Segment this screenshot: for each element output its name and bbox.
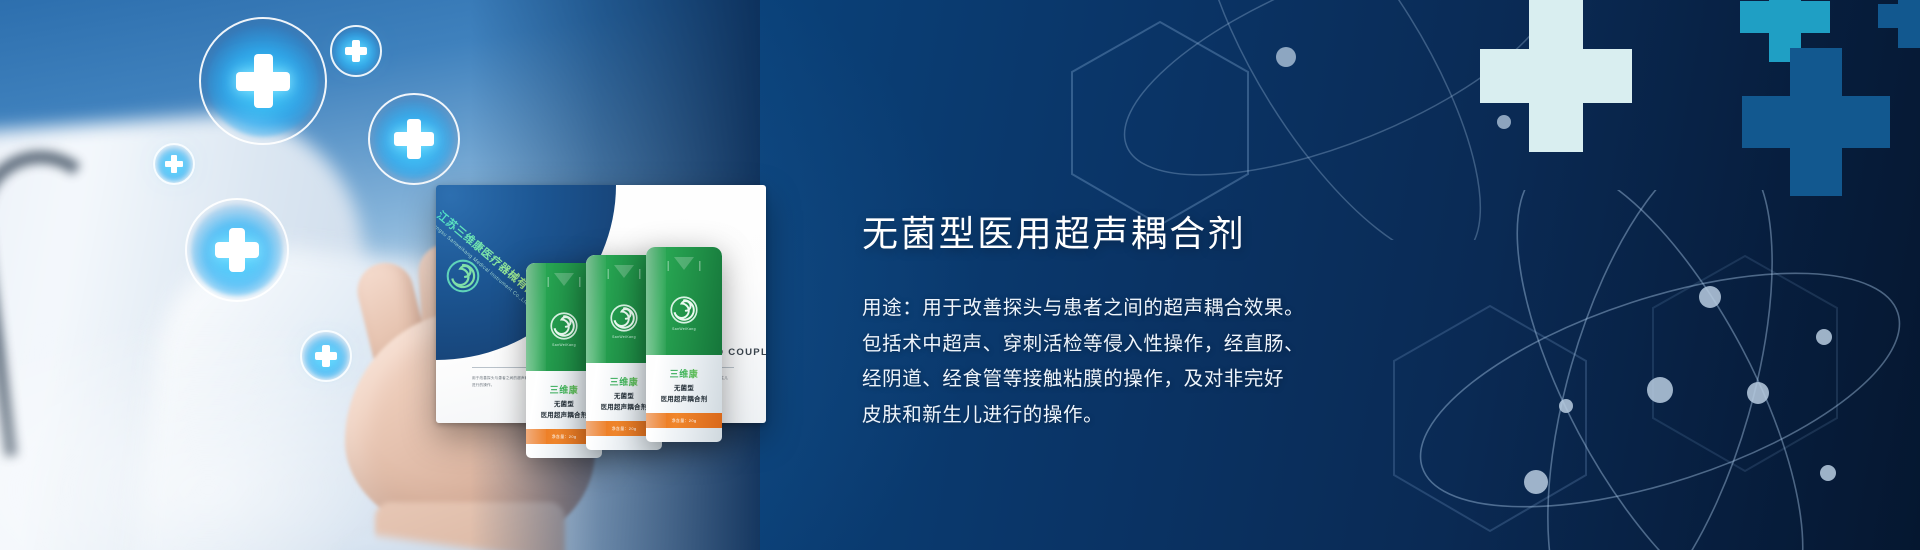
sachet-net-weight: 净含量：20g [552,434,577,440]
product-banner: 江苏三维康医疗器械有限公司 Jiangsu Sanweikang Medical… [0,0,1920,550]
spiral-logo-icon [669,295,699,325]
medical-cross-icon [345,47,367,55]
sachet-group: SanWeiKang 三维康 无菌型 医用超声耦合剂 净含量：20g [526,245,766,450]
medical-cross-icon [215,242,259,258]
spiral-logo-icon [549,311,579,341]
sachet-brand: 三维康 [646,367,722,380]
sachet-logo-caption: SanWeiKang [646,327,722,331]
hexagon-far-right [1640,250,1850,480]
medical-cross-icon [165,161,183,167]
bubble-tiny-left [153,143,195,185]
page-title: 无菌型医用超声耦合剂 [862,212,1522,255]
bubble-lower-left [185,198,289,302]
sachet-net-weight: 净含量：20g [672,418,697,424]
bubble-medium [368,93,460,185]
medical-cross-icon [315,352,337,360]
spiral-logo-icon [609,303,639,333]
flat-cross-blue [1742,48,1890,196]
bubble-large [199,17,327,145]
bubble-small-top [330,25,382,77]
sachet-weight-strip: 净含量：20g [646,413,722,428]
sachet: SanWeiKang 三维康 无菌型 医用超声耦合剂 净含量：20g [646,247,722,442]
product-group: 江苏三维康医疗器械有限公司 Jiangsu Sanweikang Medical… [436,185,766,450]
banner-copy: 无菌型医用超声耦合剂 用途：用于改善探头与患者之间的超声耦合效果。包括术中超声、… [862,212,1522,433]
bubble-bottom [300,330,352,382]
medical-cross-icon [236,72,290,91]
sachet-net-weight: 净含量：20g [612,426,637,432]
description-line-2: 包括术中超声、穿刺活检等侵入性操作，经直肠、 [862,327,1522,362]
sachet-name-line1: 无菌型 [646,383,722,392]
flat-cross-navy-small [1878,0,1920,48]
description-line-3: 经阴道、经食管等接触粘膜的操作，及对非完好 [862,362,1522,397]
flat-cross-mint [1480,0,1632,152]
medical-cross-icon [394,132,434,146]
description-line-4: 皮肤和新生儿进行的操作。 [862,398,1522,433]
description-block: 用途：用于改善探头与患者之间的超声耦合效果。包括术中超声、穿刺活检等侵入性操作，… [862,291,1522,433]
description-line-1: 用途：用于改善探头与患者之间的超声耦合效果。 [862,291,1522,326]
hexagon-top-left [1060,16,1260,231]
sachet-name-line2: 医用超声耦合剂 [646,394,722,403]
